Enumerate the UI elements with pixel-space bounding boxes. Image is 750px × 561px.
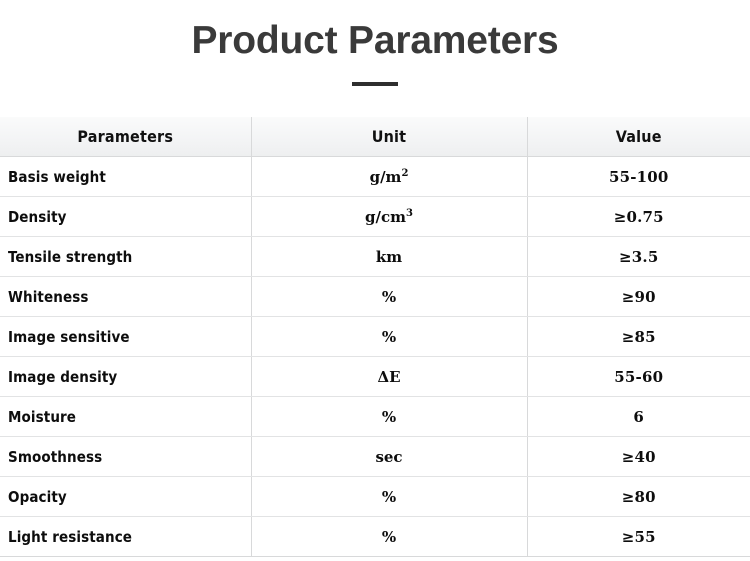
title-divider — [352, 82, 398, 86]
cell-unit: % — [251, 317, 527, 357]
unit-base: g/cm — [365, 208, 406, 226]
table-body: Basis weightg/m255-100Densityg/cm3≥0.75T… — [0, 157, 750, 557]
unit-base: % — [382, 408, 396, 426]
cell-value: ≥0.75 — [527, 197, 750, 237]
table-header: Parameters Unit Value — [0, 117, 750, 157]
cell-parameter: Image sensitive — [0, 317, 251, 357]
cell-value: ≥3.5 — [527, 237, 750, 277]
unit-base: % — [382, 328, 396, 346]
column-header-unit: Unit — [251, 117, 527, 157]
cell-parameter: Density — [0, 197, 251, 237]
cell-unit: % — [251, 477, 527, 517]
cell-unit: g/cm3 — [251, 197, 527, 237]
column-header-parameters: Parameters — [0, 117, 251, 157]
table-row: Image densityΔE55-60 — [0, 357, 750, 397]
unit-base: km — [376, 248, 402, 266]
cell-unit: % — [251, 397, 527, 437]
column-header-value: Value — [527, 117, 750, 157]
page-title: Product Parameters — [0, 0, 750, 65]
cell-unit: % — [251, 517, 527, 557]
cell-unit: g/m2 — [251, 157, 527, 197]
cell-parameter: Basis weight — [0, 157, 251, 197]
cell-parameter: Tensile strength — [0, 237, 251, 277]
cell-unit: ΔE — [251, 357, 527, 397]
table-row: Smoothnesssec≥40 — [0, 437, 750, 477]
unit-base: % — [382, 288, 396, 306]
unit-base: % — [382, 528, 396, 546]
product-parameters-page: Product Parameters Parameters Unit Value… — [0, 0, 750, 561]
cell-parameter: Image density — [0, 357, 251, 397]
unit-base: g/m — [370, 168, 402, 186]
table-row: Opacity%≥80 — [0, 477, 750, 517]
cell-unit: km — [251, 237, 527, 277]
cell-value: ≥80 — [527, 477, 750, 517]
table-row: Densityg/cm3≥0.75 — [0, 197, 750, 237]
unit-exponent: 3 — [406, 208, 413, 219]
table-row: Basis weightg/m255-100 — [0, 157, 750, 197]
cell-unit: sec — [251, 437, 527, 477]
cell-value: 6 — [527, 397, 750, 437]
cell-parameter: Opacity — [0, 477, 251, 517]
unit-exponent: 2 — [401, 168, 408, 179]
table-row: Light resistance%≥55 — [0, 517, 750, 557]
cell-parameter: Moisture — [0, 397, 251, 437]
cell-value: ≥40 — [527, 437, 750, 477]
cell-value: ≥55 — [527, 517, 750, 557]
cell-parameter: Light resistance — [0, 517, 251, 557]
cell-parameter: Whiteness — [0, 277, 251, 317]
table-row: Tensile strengthkm≥3.5 — [0, 237, 750, 277]
table-header-row: Parameters Unit Value — [0, 117, 750, 157]
unit-base: % — [382, 488, 396, 506]
table-row: Moisture%6 — [0, 397, 750, 437]
product-parameters-table: Parameters Unit Value Basis weightg/m255… — [0, 117, 750, 557]
cell-value: 55-100 — [527, 157, 750, 197]
cell-value: ≥90 — [527, 277, 750, 317]
cell-unit: % — [251, 277, 527, 317]
title-block: Product Parameters — [0, 0, 750, 117]
cell-value: 55-60 — [527, 357, 750, 397]
unit-base: sec — [375, 448, 402, 466]
cell-value: ≥85 — [527, 317, 750, 357]
cell-parameter: Smoothness — [0, 437, 251, 477]
table-row: Whiteness%≥90 — [0, 277, 750, 317]
unit-base: ΔE — [377, 368, 400, 386]
table-row: Image sensitive%≥85 — [0, 317, 750, 357]
